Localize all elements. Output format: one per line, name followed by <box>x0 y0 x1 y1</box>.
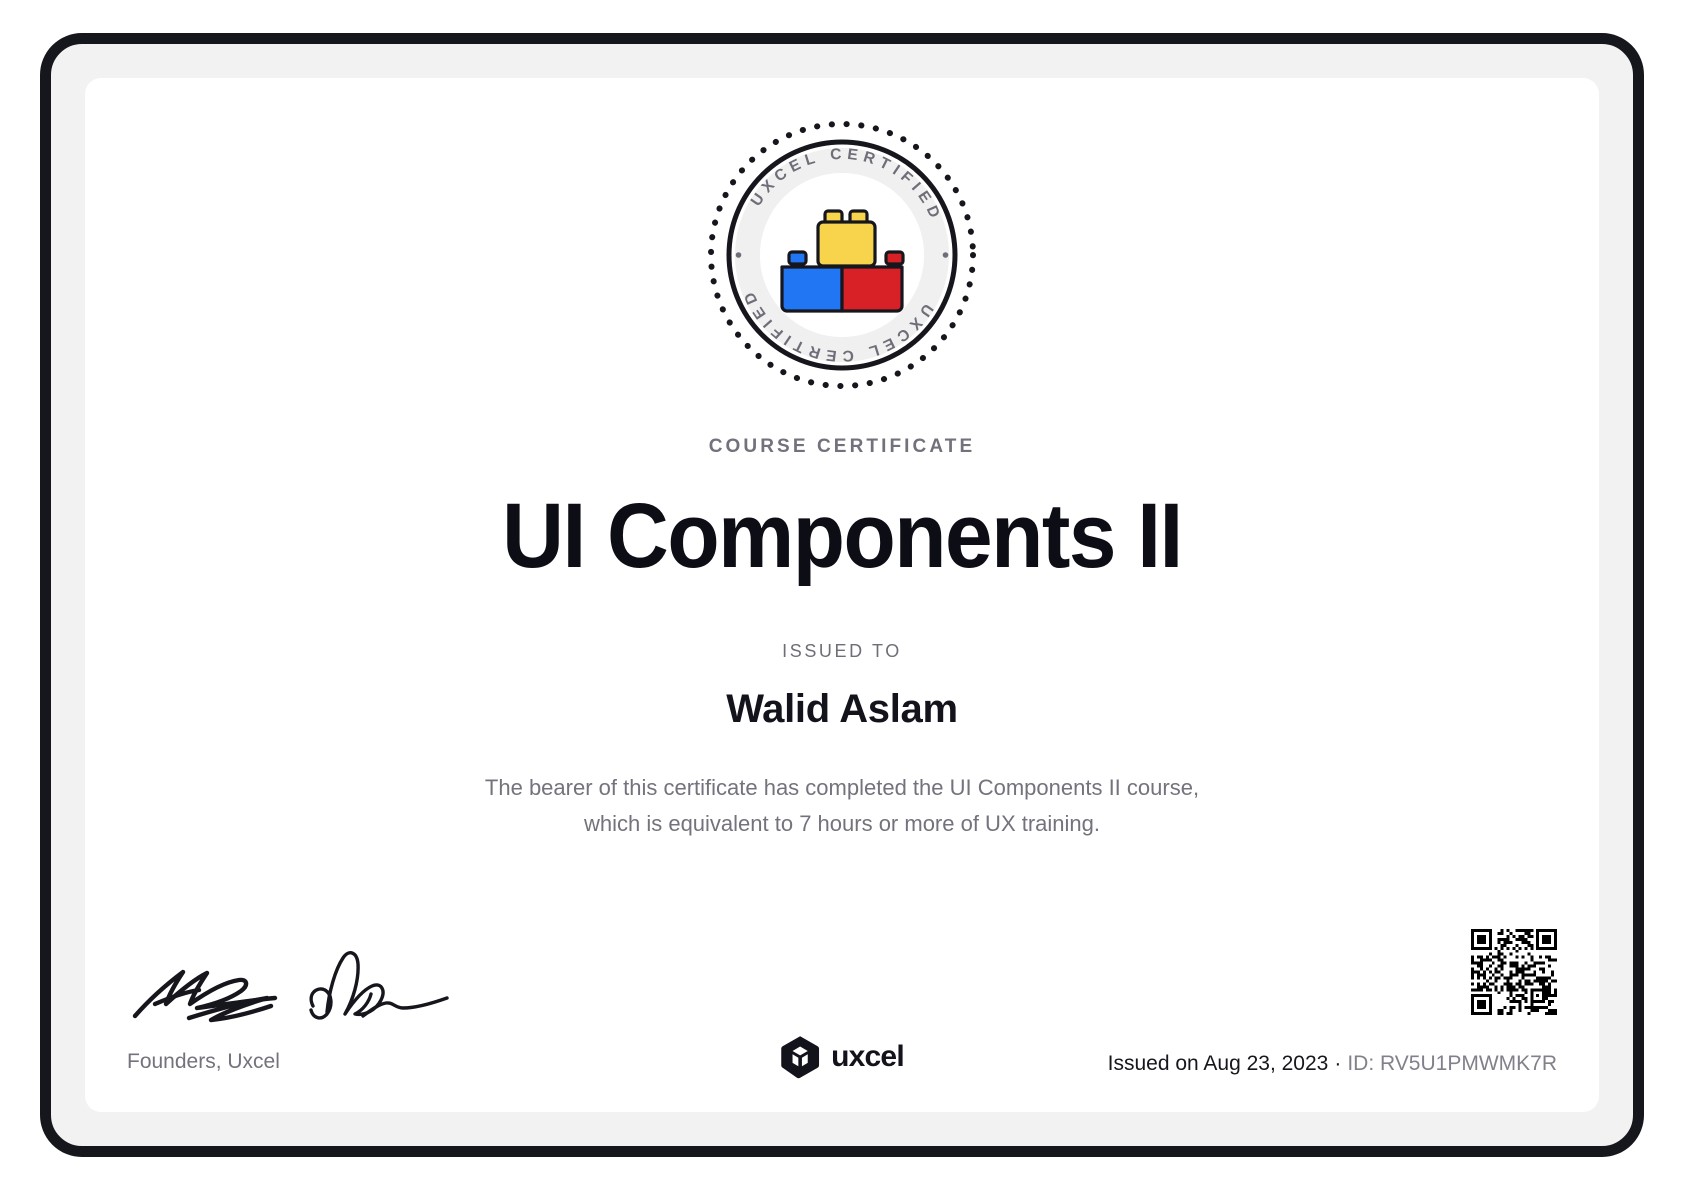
issued-to-label: ISSUED TO <box>85 641 1599 662</box>
credential-id: ID: RV5U1PMWMK7R <box>1347 1052 1557 1075</box>
separator-dot: · <box>1328 1052 1347 1075</box>
signature-two <box>311 953 447 1018</box>
issue-date: Issued on Aug 23, 2023 <box>1108 1052 1329 1075</box>
uxcel-brand: uxcel <box>780 1035 904 1079</box>
signature-caption: Founders, Uxcel <box>127 1050 280 1074</box>
certificate-frame: UXCEL CERTIFIED UXCEL CERTIFIED <box>40 33 1644 1157</box>
signature-one <box>135 972 275 1020</box>
certificate-description: The bearer of this certificate has compl… <box>412 770 1272 841</box>
issue-details: Issued on Aug 23, 2023·ID: RV5U1PMWMK7R <box>1108 1052 1557 1076</box>
certificate-description-line-2: which is equivalent to 7 hours or more o… <box>412 806 1272 842</box>
uxcel-hexagon-logo-icon <box>780 1035 820 1079</box>
badge-bullet-right <box>943 252 949 258</box>
badge-bullet-left <box>736 252 742 258</box>
certificate-description-line-1: The bearer of this certificate has compl… <box>412 770 1272 806</box>
uxcel-wordmark: uxcel <box>831 1040 904 1074</box>
qr-code[interactable] <box>1471 929 1557 1015</box>
certification-badge: UXCEL CERTIFIED UXCEL CERTIFIED <box>703 116 981 394</box>
founder-signatures <box>127 940 457 1026</box>
certificate-type-label: COURSE CERTIFICATE <box>85 436 1599 458</box>
certificate-card: UXCEL CERTIFIED UXCEL CERTIFIED <box>85 78 1599 1112</box>
page-title: UI Components II <box>138 488 1546 585</box>
recipient-name: Walid Aslam <box>85 687 1599 732</box>
